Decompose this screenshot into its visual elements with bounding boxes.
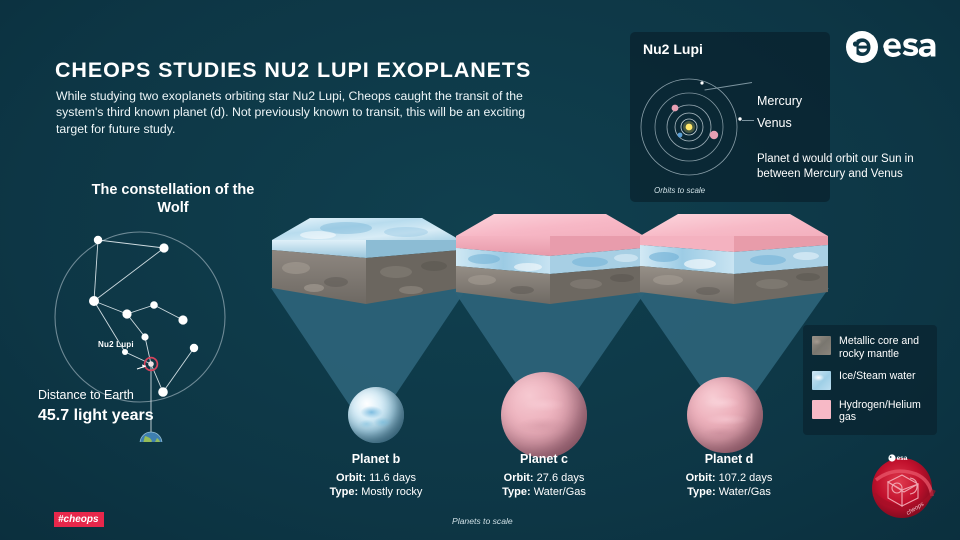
planet-orbit-c: Orbit: 27.6 days: [449, 471, 639, 485]
cheops-hashtag: #cheops: [54, 512, 104, 527]
planet-type-d: Type: Water/Gas: [634, 485, 824, 499]
planet-orbit-value-b: 11.6 days: [369, 472, 416, 484]
planet-type-key-b: Type:: [330, 486, 359, 498]
planet-type-key-c: Type:: [502, 486, 531, 498]
distance-to-earth-value: 45.7 light years: [38, 407, 154, 425]
infographic-canvas: CHEOPS STUDIES NU2 LUPI EXOPLANETS While…: [0, 0, 960, 540]
planet-type-b: Type: Mostly rocky: [281, 485, 471, 499]
planet-name-d: Planet d: [634, 452, 824, 466]
planet-orbit-b: Orbit: 11.6 days: [281, 471, 471, 485]
planets-to-scale-note: Planets to scale: [452, 516, 513, 526]
planet-caption-d: Planet d Orbit: 107.2 days Type: Water/G…: [634, 452, 824, 499]
planet-orbit-value-d: 107.2 days: [719, 472, 773, 484]
legend-label-gas: Hydrogen/Helium gas: [839, 399, 928, 425]
legend-item-rock: Metallic core and rocky mantle: [812, 335, 928, 361]
block-planet-d: [634, 212, 834, 307]
planet-type-key-d: Type:: [687, 486, 716, 498]
legend-item-ice: Ice/Steam water: [812, 370, 928, 390]
esa-logo: [845, 30, 943, 69]
page-title: CHEOPS STUDIES NU2 LUPI EXOPLANETS: [55, 58, 531, 83]
planet-caption-b: Planet b Orbit: 11.6 days Type: Mostly r…: [281, 452, 471, 499]
distance-to-earth-label: Distance to Earth: [38, 388, 134, 402]
legend-label-rock: Metallic core and rocky mantle: [839, 335, 928, 361]
orbit-label-venus: Venus: [757, 116, 792, 130]
cheops-mission-badge: esa cheops: [866, 450, 938, 522]
block-planet-c: [450, 212, 650, 307]
legend-swatch-gas-icon: [812, 400, 831, 419]
planet-orbit-d: Orbit: 107.2 days: [634, 471, 824, 485]
planet-type-value-d: Water/Gas: [719, 486, 771, 498]
planet-sphere-c: [501, 372, 587, 458]
constellation-title: The constellation of the Wolf: [78, 181, 268, 217]
planet-orbit-value-c: 27.6 days: [537, 472, 585, 484]
planet-name-c: Planet c: [449, 452, 639, 466]
orbit-panel-note: Planet d would orbit our Sun in between …: [757, 152, 957, 181]
legend-label-ice: Ice/Steam water: [839, 370, 916, 383]
venus-leader-line: [742, 120, 754, 121]
page-subtitle: While studying two exoplanets orbiting s…: [56, 88, 536, 137]
planet-type-value-c: Water/Gas: [534, 486, 586, 498]
planet-type-value-b: Mostly rocky: [361, 486, 422, 498]
badge-esa-text: esa: [897, 455, 908, 462]
orbit-label-mercury: Mercury: [757, 94, 802, 108]
orbits-to-scale-note: Orbits to scale: [654, 186, 705, 195]
legend-swatch-ice-icon: [812, 371, 831, 390]
planet-type-c: Type: Water/Gas: [449, 485, 639, 499]
constellation-star-label: Nu2 Lupi: [98, 340, 134, 349]
planet-orbit-key-d: Orbit:: [686, 472, 716, 484]
legend-swatch-rock-icon: [812, 336, 831, 355]
planet-sphere-b: [348, 387, 404, 443]
legend-item-gas: Hydrogen/Helium gas: [812, 399, 928, 425]
planet-sphere-d: [687, 377, 763, 453]
material-legend: Metallic core and rocky mantle Ice/Steam…: [803, 325, 937, 435]
planet-orbit-key-c: Orbit:: [504, 472, 534, 484]
planet-caption-c: Planet c Orbit: 27.6 days Type: Water/Ga…: [449, 452, 639, 499]
block-planet-b: [266, 216, 466, 306]
planet-orbit-key-b: Orbit:: [336, 472, 366, 484]
planet-name-b: Planet b: [281, 452, 471, 466]
